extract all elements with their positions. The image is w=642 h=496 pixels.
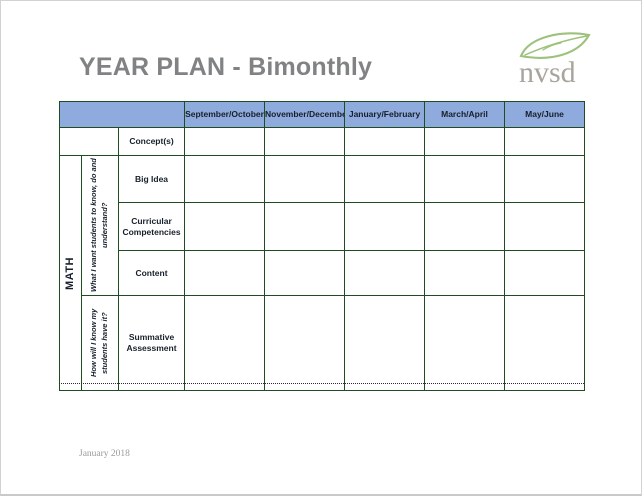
cell-big-idea-sep-oct[interactable] [185,156,265,203]
row-label-concepts: Concept(s) [119,128,185,156]
cell-content-nov-dec[interactable] [265,251,345,296]
row-label-summative-assessment: Summative Assessment [119,296,185,391]
cell-content-jan-feb[interactable] [345,251,425,296]
cell-curricular-nov-dec[interactable] [265,203,345,251]
page-title: YEAR PLAN - Bimonthly [79,53,372,82]
cell-content-mar-apr[interactable] [425,251,505,296]
table-row-curricular-competencies: Curricular Competencies [60,203,585,251]
leaf-icon [521,33,589,57]
footer-date: January 2018 [79,449,130,459]
cell-summative-may-jun[interactable] [505,296,585,391]
cell-summative-sep-oct[interactable] [185,296,265,391]
table-bottom-dotted-edge [59,383,584,384]
cell-summative-nov-dec[interactable] [265,296,345,391]
cell-big-idea-may-jun[interactable] [505,156,585,203]
question-group-label-1: What I want students to know, do and und… [89,156,111,295]
column-header-mar-apr: March/April [425,102,505,128]
cell-big-idea-jan-feb[interactable] [345,156,425,203]
cell-concepts-sep-oct[interactable] [185,128,265,156]
question-group-label-2: How will I know my students have it? [89,296,111,390]
row-label-big-idea: Big Idea [119,156,185,203]
cell-concepts-may-jun[interactable] [505,128,585,156]
table-row-big-idea: MATH What I want students to know, do an… [60,156,585,203]
cell-big-idea-mar-apr[interactable] [425,156,505,203]
cell-content-may-jun[interactable] [505,251,585,296]
cell-big-idea-nov-dec[interactable] [265,156,345,203]
header-corner-blank [60,102,185,128]
cell-summative-mar-apr[interactable] [425,296,505,391]
cell-curricular-may-jun[interactable] [505,203,585,251]
subject-label-math: MATH [60,156,82,391]
question-group-know-do-understand: What I want students to know, do and und… [82,156,119,296]
table-row-summative-assessment: How will I know my students have it? Sum… [60,296,585,391]
question-group-how-will-i-know: How will I know my students have it? [82,296,119,391]
cell-content-sep-oct[interactable] [185,251,265,296]
nvsd-logo: nvsd [517,29,609,87]
row-label-content: Content [119,251,185,296]
concepts-spacer [60,128,119,156]
column-header-nov-dec: November/December [265,102,345,128]
cell-curricular-jan-feb[interactable] [345,203,425,251]
column-header-jan-feb: January/February [345,102,425,128]
cell-curricular-sep-oct[interactable] [185,203,265,251]
logo-wordmark: nvsd [519,56,576,87]
column-header-sep-oct: September/October [185,102,265,128]
cell-concepts-jan-feb[interactable] [345,128,425,156]
table-header-row: September/October November/December Janu… [60,102,585,128]
column-header-may-jun: May/June [505,102,585,128]
document-page: YEAR PLAN - Bimonthly nvsd September/Oct… [0,0,642,496]
table-row-content: Content [60,251,585,296]
cell-concepts-mar-apr[interactable] [425,128,505,156]
subject-label-text: MATH [63,257,79,290]
row-label-curricular-competencies: Curricular Competencies [119,203,185,251]
year-plan-table: September/October November/December Janu… [59,101,585,391]
table-row-concepts: Concept(s) [60,128,585,156]
cell-concepts-nov-dec[interactable] [265,128,345,156]
cell-curricular-mar-apr[interactable] [425,203,505,251]
cell-summative-jan-feb[interactable] [345,296,425,391]
